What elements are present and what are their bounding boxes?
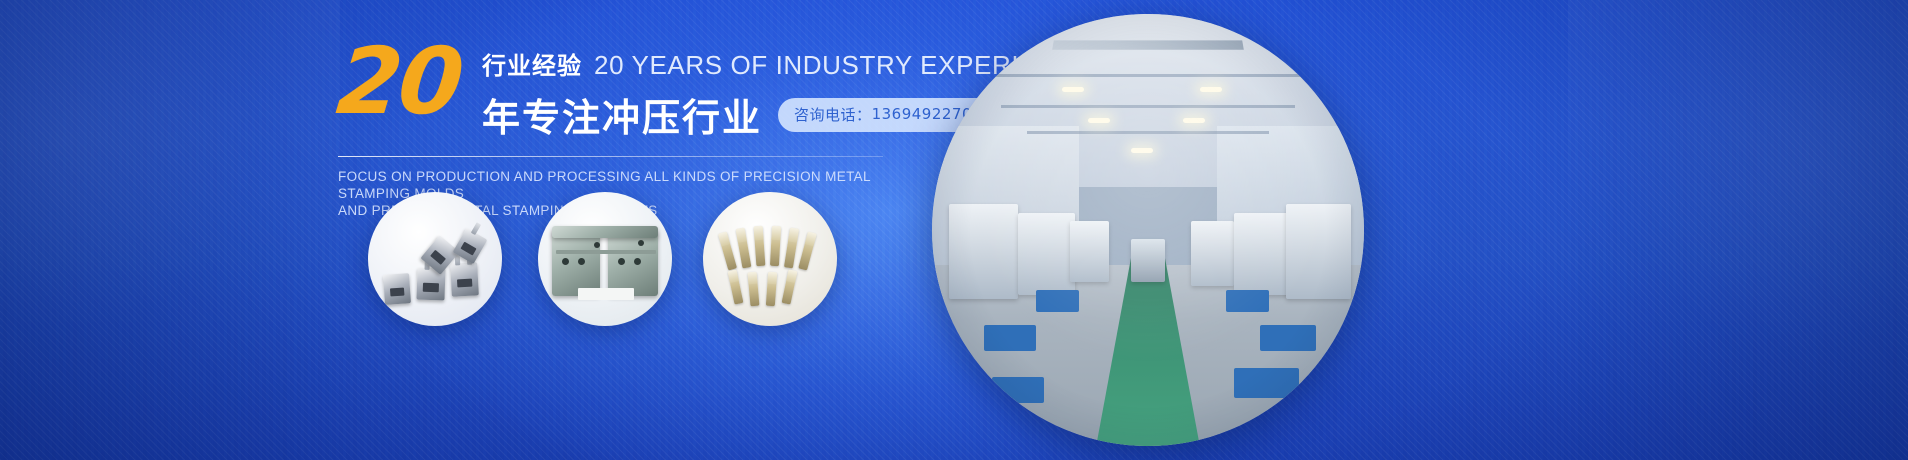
headline-chinese: 年专注冲压行业 — [482, 87, 762, 142]
terminal-pin — [770, 226, 781, 266]
years-number: 20 — [334, 42, 464, 121]
headline-row: 20 行业经验 20 YEARS OF INDUSTRY EXPERIENCE … — [338, 38, 898, 142]
tagline-chinese: 行业经验 — [482, 46, 582, 81]
mold-hole — [578, 258, 585, 265]
product-circle-mold-die[interactable] — [538, 192, 672, 326]
connector-slot — [423, 283, 439, 292]
terminal-pin — [718, 231, 737, 270]
terminal-pin — [766, 272, 777, 307]
product-circle-connectors[interactable] — [368, 192, 502, 326]
connector-slot — [457, 278, 473, 287]
factory-photo-circle[interactable] — [932, 14, 1364, 446]
connector-part — [383, 273, 411, 305]
product-circle-terminal-pins[interactable] — [703, 192, 837, 326]
terminal-pin — [754, 226, 766, 267]
terminal-pin — [728, 269, 744, 304]
background-machinery-left — [0, 0, 340, 460]
mold-hole — [618, 258, 625, 265]
terminal-pin — [798, 231, 817, 270]
terminal-pin — [736, 228, 752, 269]
mold-hole — [638, 240, 644, 246]
connector-slot — [461, 242, 476, 255]
mold-rail — [556, 250, 656, 254]
mold-half-left — [552, 230, 600, 296]
terminal-pin — [748, 272, 760, 307]
mold-top-plate — [552, 226, 658, 238]
connector-slot — [430, 250, 446, 265]
mold-hole — [594, 242, 600, 248]
mold-hole — [562, 258, 569, 265]
connector-part — [450, 262, 479, 296]
connector-tab — [471, 222, 481, 235]
divider-rule — [338, 156, 883, 157]
connector-slot — [390, 288, 405, 297]
background-machinery-right — [1568, 0, 1908, 460]
contact-label: 咨询电话： — [794, 104, 872, 125]
mold-cavity — [578, 288, 634, 300]
headline-block: 20 行业经验 20 YEARS OF INDUSTRY EXPERIENCE … — [338, 38, 898, 219]
mold-half-right — [608, 230, 658, 296]
mold-hole — [634, 258, 641, 265]
terminal-pin — [784, 228, 799, 269]
terminal-pin — [782, 269, 798, 304]
promo-banner: 20 行业经验 20 YEARS OF INDUSTRY EXPERIENCE … — [0, 0, 1908, 460]
photo-lighting-overlay — [932, 14, 1364, 446]
